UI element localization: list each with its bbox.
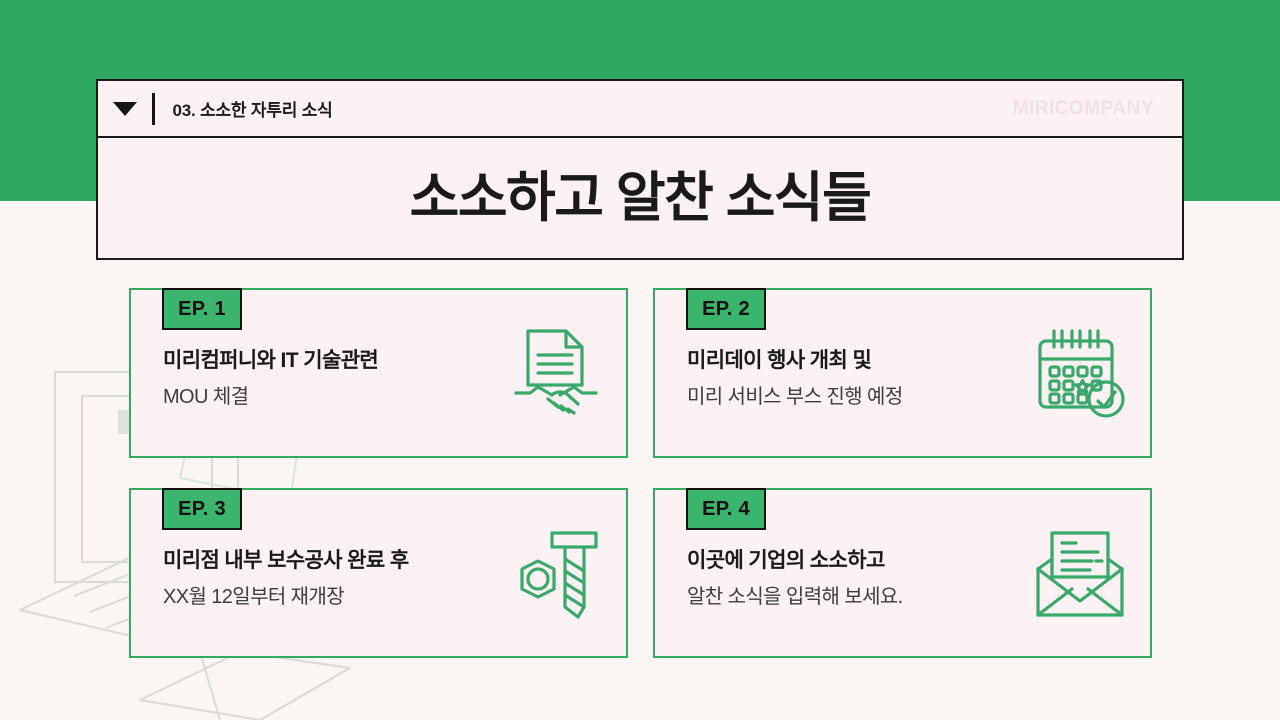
page-title: 소소하고 알찬 소식들 [410, 171, 871, 225]
episode-badge: EP. 4 [686, 488, 766, 530]
episode-card[interactable]: EP. 4 이곳에 기업의 소소하고 알찬 소식을 입력해 보세요. [653, 488, 1152, 658]
episode-headline: 미리컴퍼니와 IT 기술관련 [163, 348, 503, 374]
title-box: 소소하고 알찬 소식들 [96, 138, 1184, 260]
company-logo: MIRICOMPANY [1013, 98, 1154, 120]
episode-badge: EP. 3 [162, 488, 242, 530]
episode-subline: 알찬 소식을 입력해 보세요. [687, 585, 1027, 610]
document-handshake-icon [508, 325, 604, 421]
breadcrumb: 03. 소소한 자투리 소식 [173, 96, 333, 121]
episode-text: 미리컴퍼니와 IT 기술관련 MOU 체결 [163, 348, 503, 410]
episode-headline: 이곳에 기업의 소소하고 [687, 548, 1027, 574]
episode-headline: 미리데이 행사 개최 및 [687, 348, 1027, 374]
episode-headline: 미리점 내부 보수공사 완료 후 [163, 548, 503, 574]
episode-card[interactable]: EP. 2 미리데이 행사 개최 및 미리 서비스 부스 진행 예정 [653, 288, 1152, 458]
episode-badge: EP. 1 [162, 288, 242, 330]
caret-down-icon[interactable] [98, 102, 152, 116]
screw-nut-icon [508, 525, 604, 621]
calendar-check-icon [1032, 325, 1128, 421]
episode-text: 미리점 내부 보수공사 완료 후 XX월 12일부터 재개장 [163, 548, 503, 610]
header-breadcrumb-bar: 03. 소소한 자투리 소식 MIRICOMPANY [96, 79, 1184, 138]
episode-subline: 미리 서비스 부스 진행 예정 [687, 385, 1027, 410]
episode-subline: MOU 체결 [163, 385, 503, 410]
episode-card-grid: EP. 1 미리컴퍼니와 IT 기술관련 MOU 체결 [129, 288, 1152, 658]
slide-canvas: 03. 소소한 자투리 소식 MIRICOMPANY 소소하고 알찬 소식들 E… [0, 0, 1280, 720]
open-envelope-icon [1032, 525, 1128, 621]
episode-card[interactable]: EP. 3 미리점 내부 보수공사 완료 후 XX월 12일부터 재개장 [129, 488, 628, 658]
episode-text: 이곳에 기업의 소소하고 알찬 소식을 입력해 보세요. [687, 548, 1027, 610]
header-divider [152, 93, 155, 125]
episode-card[interactable]: EP. 1 미리컴퍼니와 IT 기술관련 MOU 체결 [129, 288, 628, 458]
episode-badge: EP. 2 [686, 288, 766, 330]
episode-subline: XX월 12일부터 재개장 [163, 585, 503, 610]
episode-text: 미리데이 행사 개최 및 미리 서비스 부스 진행 예정 [687, 348, 1027, 410]
